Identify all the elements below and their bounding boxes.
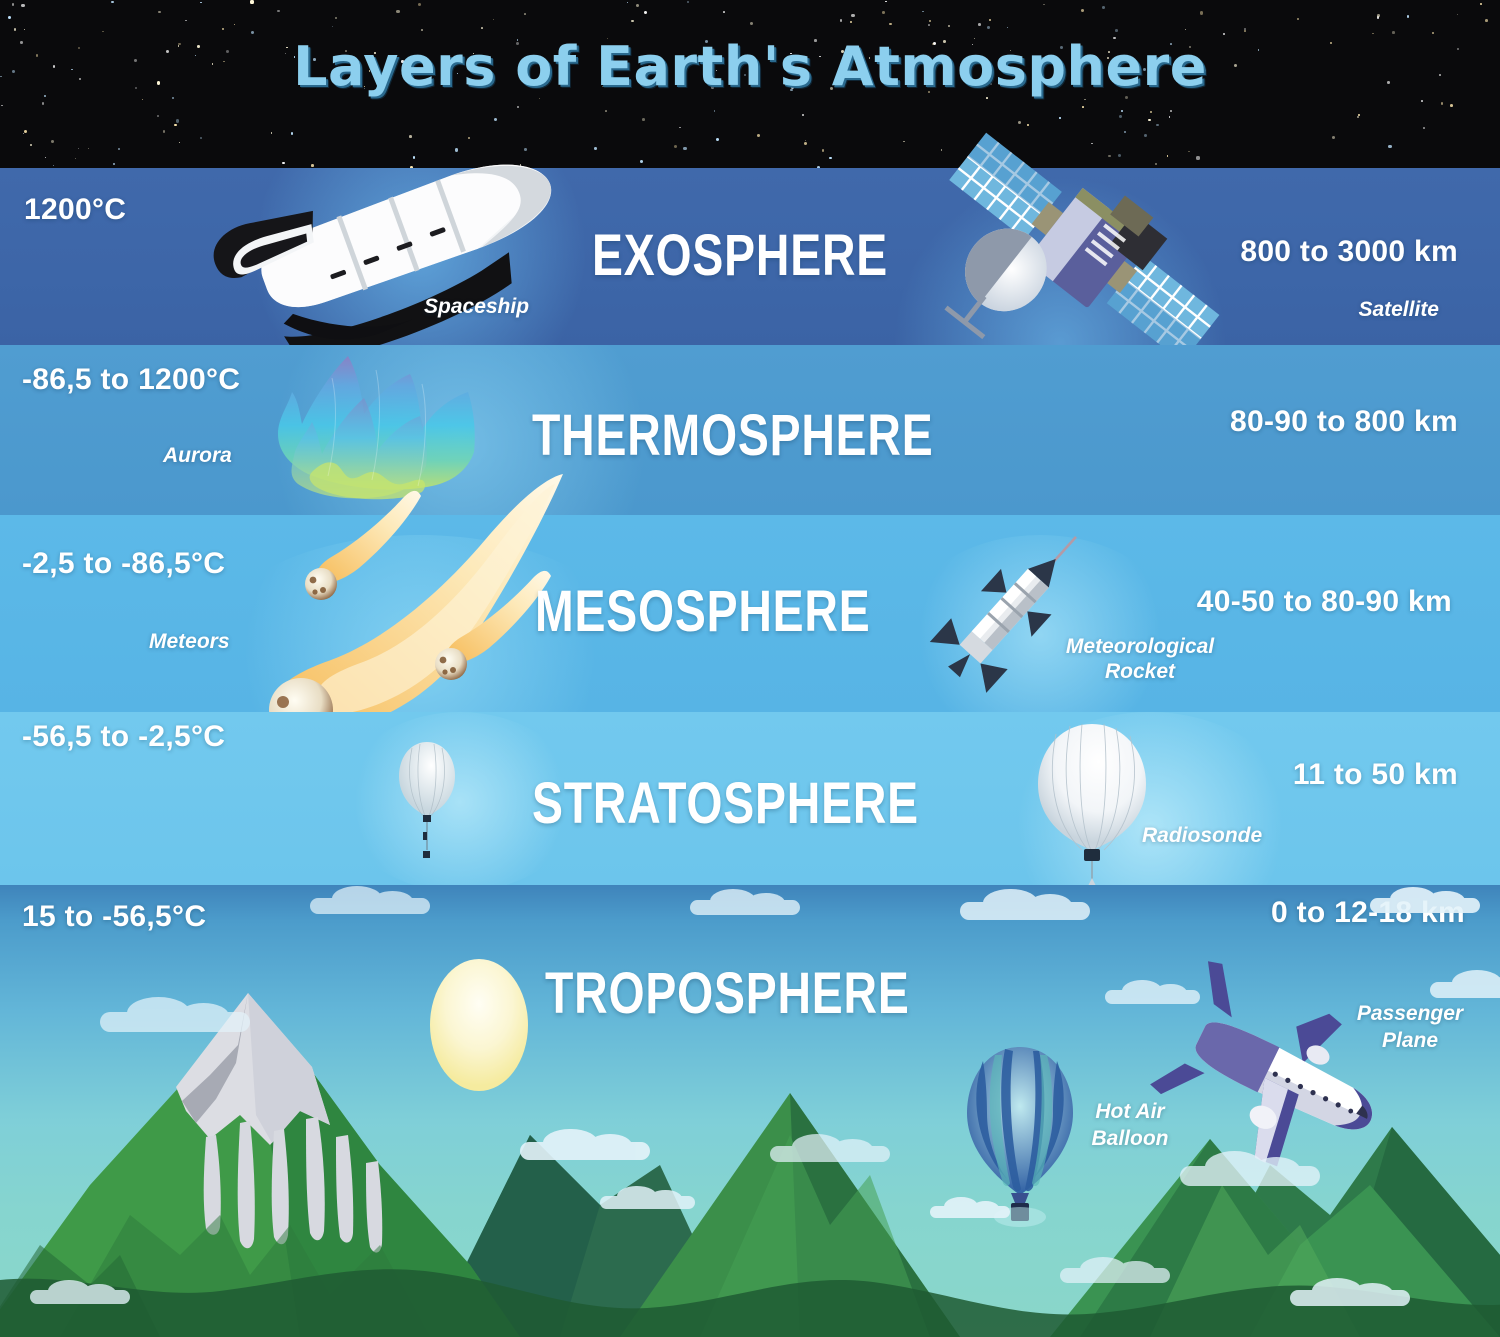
star-icon [42, 102, 44, 104]
star-icon [1200, 11, 1203, 14]
star-icon [1121, 110, 1123, 112]
star-icon [802, 114, 804, 116]
star-icon [1081, 9, 1084, 12]
star-icon [24, 29, 25, 30]
star-icon [282, 162, 285, 165]
star-icon [714, 110, 715, 111]
star-icon [636, 4, 639, 7]
temperature-thermosphere: -86,5 to 1200°C [22, 363, 240, 397]
star-icon [413, 156, 416, 159]
star-icon [111, 1, 114, 4]
star-icon [683, 147, 686, 150]
star-icon [174, 124, 177, 127]
star-icon [421, 29, 424, 32]
star-icon [805, 140, 806, 141]
star-icon [631, 20, 633, 22]
star-icon [889, 23, 892, 26]
cloud-icon [310, 898, 430, 914]
star-icon [1421, 100, 1423, 102]
star-icon [1185, 29, 1187, 31]
star-icon [251, 31, 254, 34]
star-icon [494, 118, 497, 121]
cloud-icon [690, 900, 800, 915]
star-icon [179, 142, 180, 143]
caption-meteors: Meteors [149, 630, 230, 654]
star-icon [1297, 18, 1299, 20]
star-icon [644, 11, 647, 14]
star-icon [1059, 117, 1060, 118]
star-icon [30, 144, 32, 146]
star-icon [1150, 111, 1151, 112]
star-icon [118, 148, 120, 150]
cloud-icon [520, 1142, 650, 1160]
caption-rocket-line1: Meteorological [1040, 635, 1240, 659]
star-icon [222, 28, 223, 29]
star-icon [311, 164, 314, 167]
star-icon [989, 19, 991, 21]
star-icon [481, 27, 483, 29]
star-icon [1441, 102, 1444, 105]
star-icon [903, 141, 904, 142]
star-icon [14, 28, 16, 30]
star-icon [1423, 127, 1425, 129]
star-icon [679, 127, 680, 128]
star-icon [176, 119, 179, 122]
star-icon [922, 11, 924, 13]
star-icon [1156, 124, 1159, 127]
star-icon [674, 145, 677, 148]
star-icon [45, 157, 46, 158]
star-icon [605, 110, 607, 112]
star-icon [850, 21, 852, 23]
star-icon [493, 19, 494, 20]
temperature-mesosphere: -2,5 to -86,5°C [22, 547, 225, 581]
layer-band-troposphere[interactable] [0, 885, 1500, 1337]
star-icon [1450, 104, 1453, 107]
star-icon [113, 163, 115, 165]
caption-radiosonde: Radiosonde [1142, 824, 1262, 848]
star-icon [24, 130, 27, 133]
star-icon [1043, 4, 1045, 6]
star-icon [51, 140, 54, 143]
star-icon [822, 149, 824, 151]
star-icon [157, 115, 159, 117]
page-title: Layers of Earth's Atmosphere [0, 35, 1500, 98]
star-icon [594, 147, 597, 150]
star-icon [1115, 29, 1118, 32]
star-icon [1377, 14, 1380, 17]
weather-balloon-small-icon [392, 738, 462, 868]
star-icon [75, 158, 76, 159]
star-icon [1, 105, 2, 106]
star-icon [978, 23, 981, 26]
infographic-root: Layers of Earth's Atmosphere [0, 0, 1500, 1337]
star-icon [804, 142, 807, 145]
cloud-icon [1060, 1268, 1170, 1283]
layer-name-mesosphere: MESOSPHERE [535, 578, 870, 645]
star-icon [8, 16, 11, 19]
caption-satellite: Satellite [1358, 298, 1439, 322]
star-icon [23, 133, 24, 134]
star-icon [840, 19, 842, 21]
star-icon [1170, 110, 1172, 112]
star-icon [524, 13, 526, 15]
star-icon [1119, 115, 1122, 118]
star-icon [271, 132, 272, 133]
star-icon [1392, 31, 1395, 34]
star-icon [829, 157, 831, 159]
star-icon [517, 106, 519, 108]
star-icon [163, 130, 166, 133]
star-icon [539, 98, 540, 99]
caption-rocket-line2: Rocket [1040, 660, 1240, 684]
star-icon [234, 24, 236, 26]
caption-passenger-plane-line1: Passenger [1330, 1002, 1490, 1026]
altitude-thermosphere: 80-90 to 800 km [1230, 405, 1458, 439]
star-icon [1432, 32, 1434, 34]
temperature-stratosphere: -56,5 to -2,5°C [22, 720, 225, 754]
star-icon [468, 137, 470, 139]
star-icon [1407, 15, 1410, 18]
star-icon [1082, 106, 1084, 108]
star-icon [882, 11, 885, 14]
star-icon [948, 25, 950, 27]
star-icon [12, 3, 15, 6]
star-icon [200, 2, 201, 3]
star-icon [928, 24, 930, 26]
caption-hot-air-balloon-line2: Balloon [1050, 1127, 1210, 1151]
star-icon [21, 4, 24, 7]
star-icon [1148, 119, 1150, 121]
star-icon [627, 2, 628, 3]
layer-name-troposphere: TROPOSPHERE [545, 960, 910, 1027]
star-icon [53, 165, 54, 166]
cloud-icon [930, 1206, 1010, 1218]
star-icon [1357, 116, 1359, 118]
star-icon [142, 99, 143, 100]
cloud-icon [30, 1290, 130, 1304]
star-icon [455, 148, 458, 151]
star-icon [716, 138, 719, 141]
star-icon [250, 0, 253, 3]
altitude-exosphere: 800 to 3000 km [1240, 235, 1458, 269]
star-icon [851, 14, 854, 17]
star-icon [102, 31, 103, 32]
star-icon [885, 1, 887, 3]
star-icon [687, 1, 689, 3]
caption-hot-air-balloon-line1: Hot Air [1050, 1100, 1210, 1124]
star-icon [1027, 124, 1029, 126]
star-icon [396, 10, 399, 13]
cloud-icon [1290, 1290, 1410, 1306]
spaceship-icon [205, 170, 595, 350]
star-icon [929, 20, 930, 21]
star-icon [332, 26, 333, 27]
cloud-icon [1370, 898, 1480, 913]
star-icon [524, 148, 527, 151]
star-icon [200, 137, 201, 138]
star-icon [757, 134, 760, 137]
star-icon [1480, 3, 1482, 5]
star-icon [78, 148, 79, 149]
cloud-icon [600, 1196, 695, 1209]
layer-name-thermosphere: THERMOSPHERE [532, 402, 933, 469]
altitude-stratosphere: 11 to 50 km [1293, 758, 1458, 792]
star-icon [1169, 116, 1171, 118]
altitude-mesosphere: 40-50 to 80-90 km [1197, 585, 1452, 619]
star-icon [1457, 14, 1458, 15]
star-icon [291, 132, 294, 135]
layer-name-exosphere: EXOSPHERE [592, 222, 888, 289]
star-icon [185, 20, 187, 22]
star-icon [418, 3, 421, 6]
star-icon [277, 10, 279, 12]
star-icon [750, 22, 753, 25]
caption-spaceship: Spaceship [424, 295, 529, 319]
star-icon [1102, 6, 1105, 9]
cloud-icon [1105, 990, 1200, 1004]
star-icon [723, 11, 725, 13]
caption-aurora: Aurora [163, 444, 232, 468]
cloud-icon [1180, 1166, 1320, 1186]
cloud-icon [100, 1012, 250, 1032]
star-icon [1084, 99, 1085, 100]
star-icon [1485, 19, 1488, 22]
star-icon [1007, 27, 1009, 29]
cloud-icon [770, 1146, 890, 1162]
cloud-icon [1430, 982, 1500, 998]
header-space-band: Layers of Earth's Atmosphere [0, 0, 1500, 170]
star-icon [1388, 145, 1391, 148]
star-icon [987, 26, 990, 29]
star-icon [642, 118, 645, 121]
star-icon [158, 11, 160, 13]
star-icon [1244, 30, 1246, 32]
satellite-icon [930, 128, 1230, 378]
star-icon [1332, 136, 1335, 139]
caption-passenger-plane-line2: Plane [1330, 1029, 1490, 1053]
star-icon [1018, 121, 1021, 124]
temperature-troposphere: 15 to -56,5°C [22, 900, 206, 934]
star-icon [409, 135, 412, 138]
layer-name-stratosphere: STRATOSPHERE [532, 770, 919, 837]
star-icon [640, 160, 643, 163]
cloud-icon [960, 902, 1090, 920]
temperature-exosphere: 1200°C [24, 193, 126, 227]
star-icon [88, 148, 89, 149]
star-icon [335, 17, 337, 19]
